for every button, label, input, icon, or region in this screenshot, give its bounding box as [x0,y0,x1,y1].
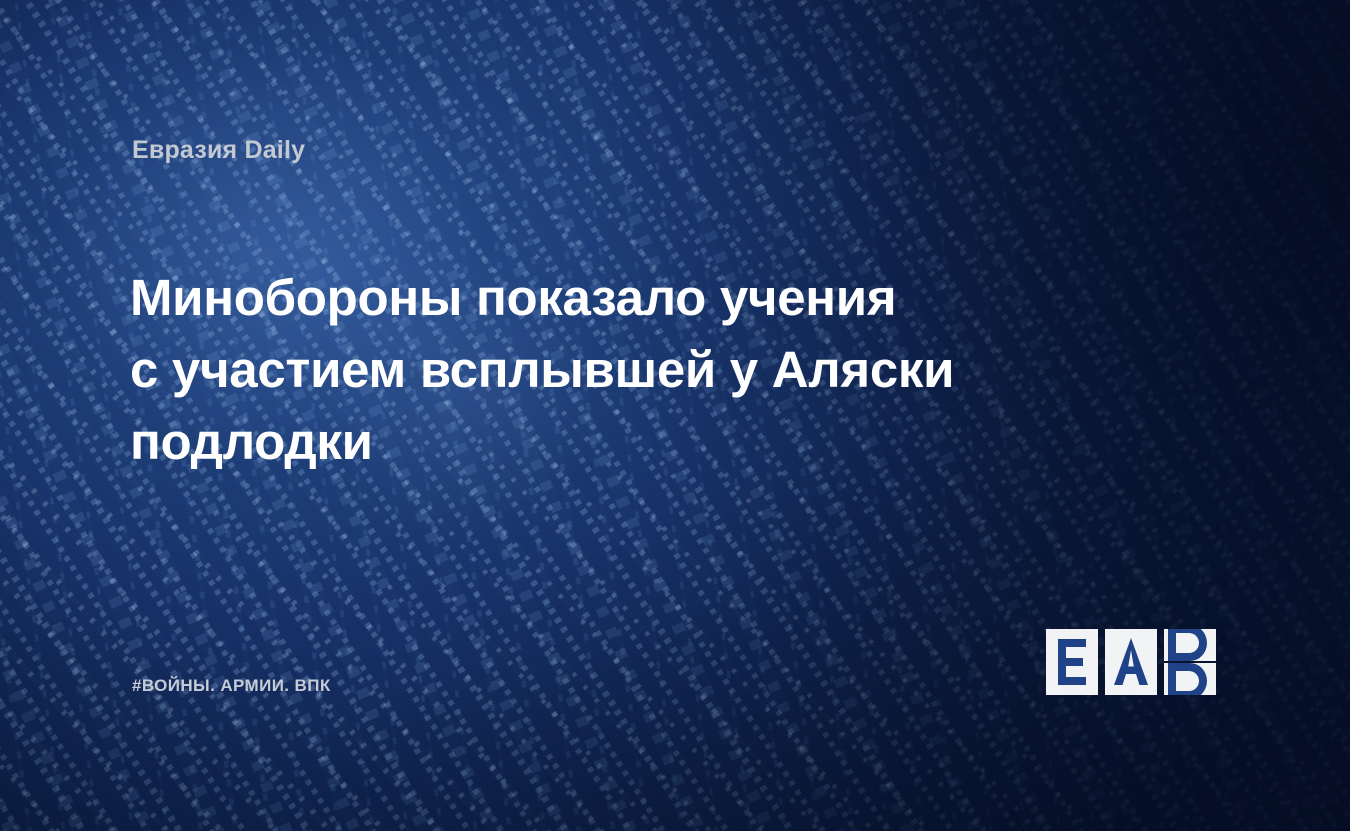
logo-tile-a [1105,629,1157,695]
logo-letter-d-lower-icon [1164,663,1216,695]
page-title: Минобороны показало учения с участием вс… [130,262,1090,478]
rubric-tag: #ВОЙНЫ. АРМИИ. ВПК [132,676,331,696]
headline-line-1: Минобороны показало учения [130,262,1090,334]
brand-name: Евразия Daily [132,136,305,165]
eadaily-logo [1046,629,1216,695]
logo-letter-a-icon [1105,629,1157,695]
headline-line-3: подлодки [130,406,1090,478]
logo-letter-e-icon [1046,629,1098,695]
logo-tile-e [1046,629,1098,695]
social-share-card: Евразия Daily Минобороны показало учения… [0,0,1350,831]
logo-letter-d-upper-icon [1164,629,1216,661]
card-content: Евразия Daily Минобороны показало учения… [0,0,1350,831]
logo-tile-d-upper [1164,629,1216,661]
logo-tile-d-lower [1164,663,1216,695]
headline-line-2: с участием всплывшей у Аляски [130,334,1090,406]
logo-tile-d [1164,629,1216,695]
